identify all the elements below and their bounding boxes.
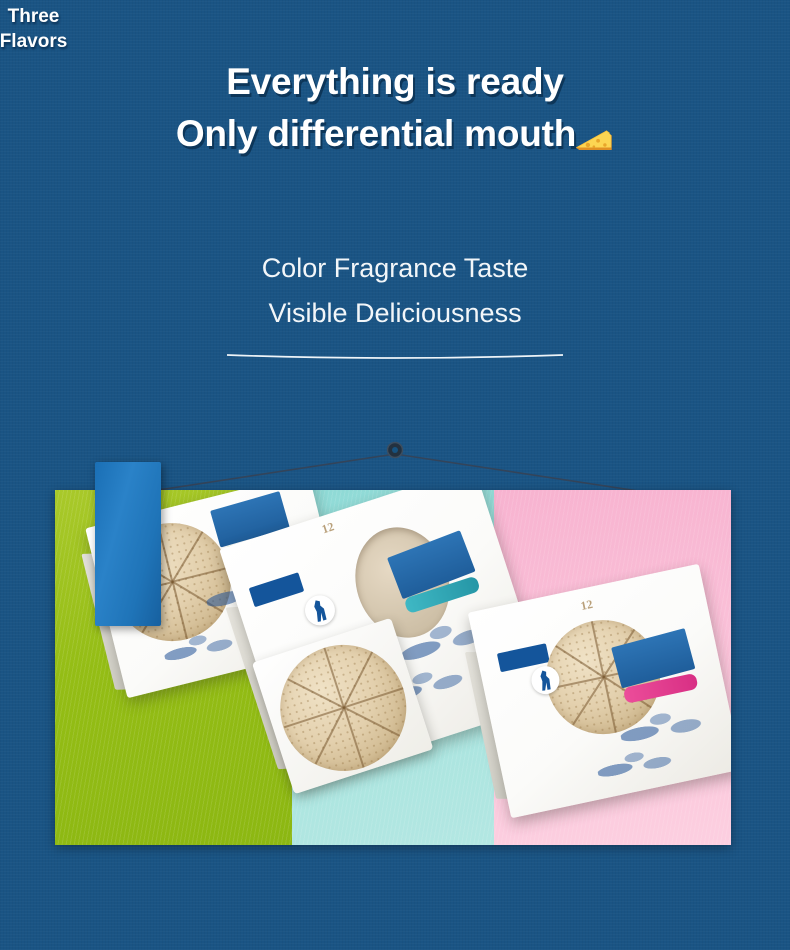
headline-line-2: Only differential mouth [176,113,576,154]
wavy-divider-line [225,352,565,362]
three-flavors-tag [95,462,161,626]
subtitle-line-2: Visible Deliciousness [0,291,790,336]
headline-line-2-wrap: Only differential mouth [176,108,614,160]
three-flavors-line-1: Three [0,4,111,29]
three-flavors-line-2: Flavors [0,29,111,54]
three-flavors-label: Three Flavors [0,4,111,54]
page-title: Everything is ready Only differential mo… [0,56,790,160]
page-subtitle: Color Fragrance Taste Visible Deliciousn… [0,246,790,336]
cheese-wedge-icon [572,118,614,152]
headline-line-1: Everything is ready [0,56,790,108]
subtitle-line-1: Color Fragrance Taste [0,246,790,291]
promo-banner-page: Everything is ready Only differential mo… [0,0,790,950]
